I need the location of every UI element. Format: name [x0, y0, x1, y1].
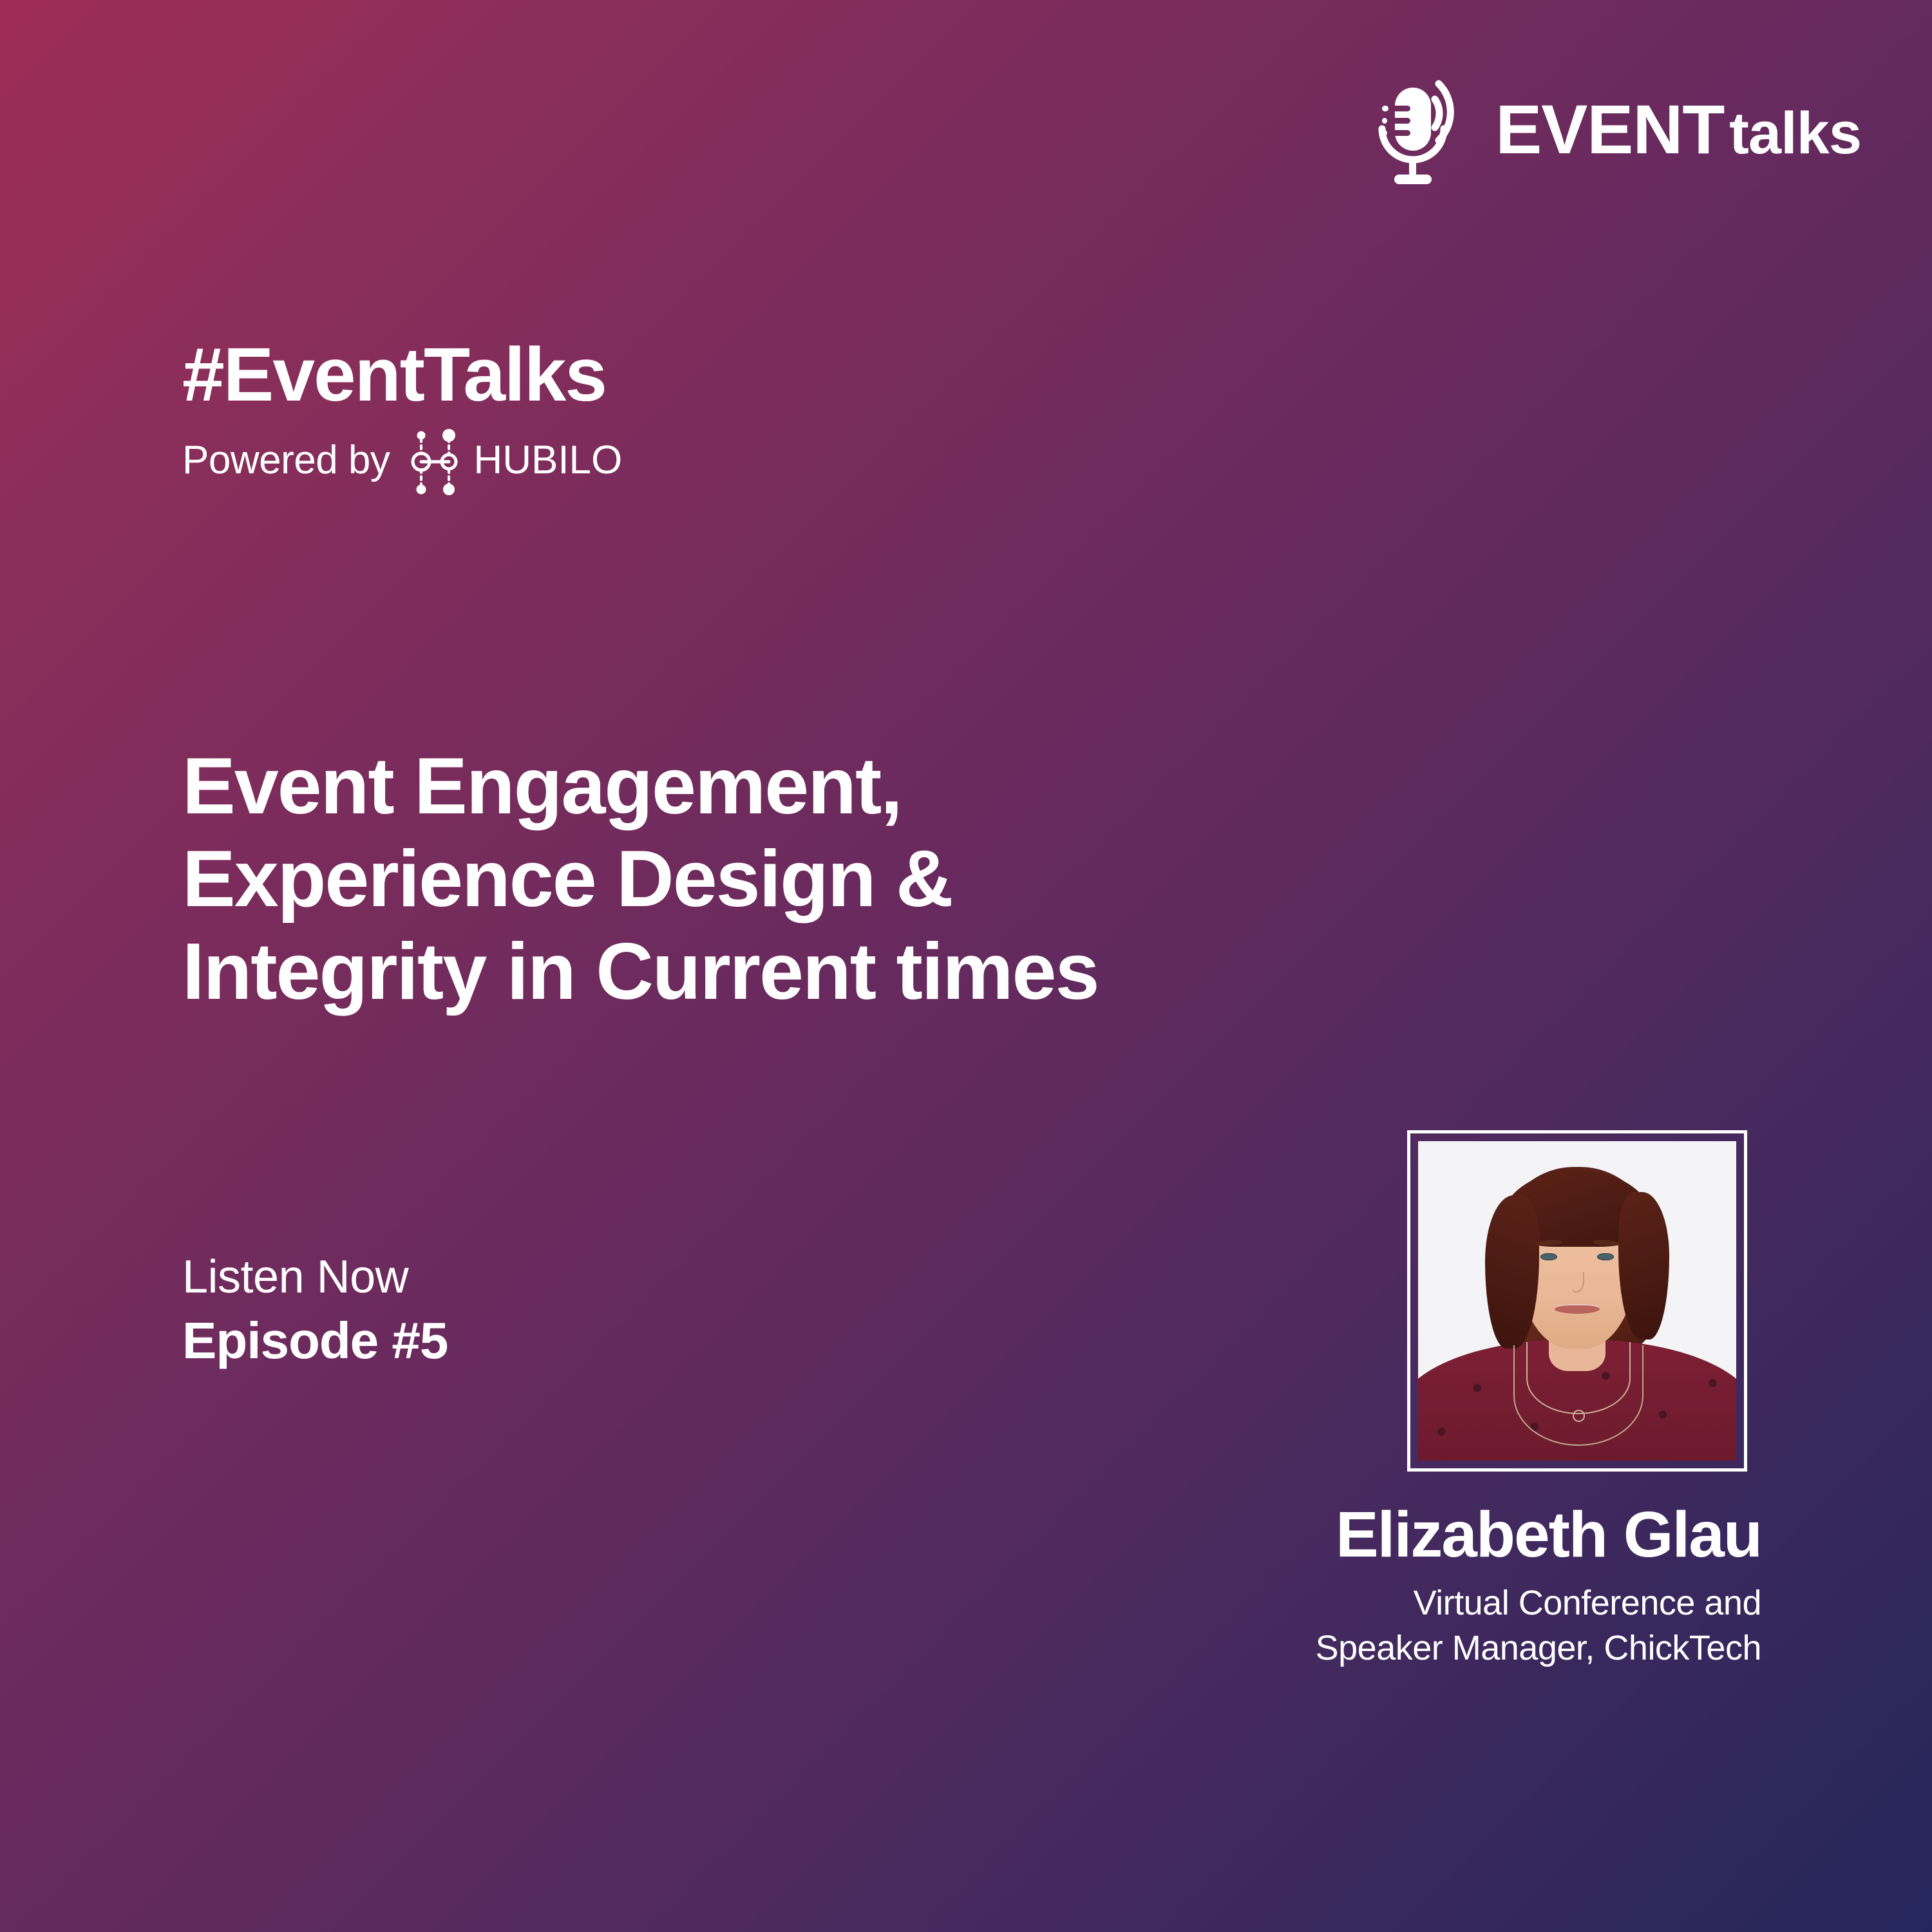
episode-title-line-2: Experience Design &	[182, 833, 1361, 926]
podcast-episode-poster: EVENT talks #EventTalks Powered by	[0, 0, 1932, 1932]
hubilo-network-icon	[404, 428, 466, 495]
powered-by-row: Powered by	[182, 427, 622, 494]
microphone-icon	[1377, 70, 1473, 189]
powered-by-label: Powered by	[182, 440, 390, 480]
logo-word-talks: talks	[1729, 104, 1861, 163]
episode-number-label: Episode #5	[182, 1310, 448, 1372]
episode-title-line-3: Integrity in Current times	[182, 926, 1361, 1019]
speaker-photo-frame	[1407, 1130, 1747, 1472]
portrait-mouth	[1555, 1304, 1599, 1314]
speaker-role-line-1: Virtual Conference and	[989, 1580, 1761, 1625]
portrait-hair-right	[1618, 1192, 1669, 1339]
speaker-role-line-2: Speaker Manager, ChickTech	[989, 1625, 1761, 1671]
speaker-name: Elizabeth Glau	[989, 1501, 1761, 1569]
episode-title-line-1: Event Engagement,	[182, 741, 1361, 833]
logo-wordmark: EVENT talks	[1495, 95, 1861, 164]
speaker-portrait-image	[1418, 1141, 1736, 1461]
hubilo-wordmark: HUBILO	[473, 440, 622, 480]
speaker-role: Virtual Conference and Speaker Manager, …	[989, 1580, 1761, 1671]
show-branding-block: #EventTalks Powered by	[182, 335, 622, 494]
speaker-info-block: Elizabeth Glau Virtual Conference and Sp…	[989, 1501, 1761, 1671]
logo-word-event: EVENT	[1495, 95, 1724, 164]
listen-now-block: Listen Now Episode #5	[182, 1249, 448, 1372]
portrait-necklace-long	[1513, 1345, 1643, 1446]
episode-title: Event Engagement, Experience Design & In…	[182, 741, 1361, 1018]
listen-now-label[interactable]: Listen Now	[182, 1249, 448, 1305]
show-hashtag: #EventTalks	[182, 335, 622, 415]
eventtalks-logo: EVENT talks	[1377, 70, 1861, 189]
